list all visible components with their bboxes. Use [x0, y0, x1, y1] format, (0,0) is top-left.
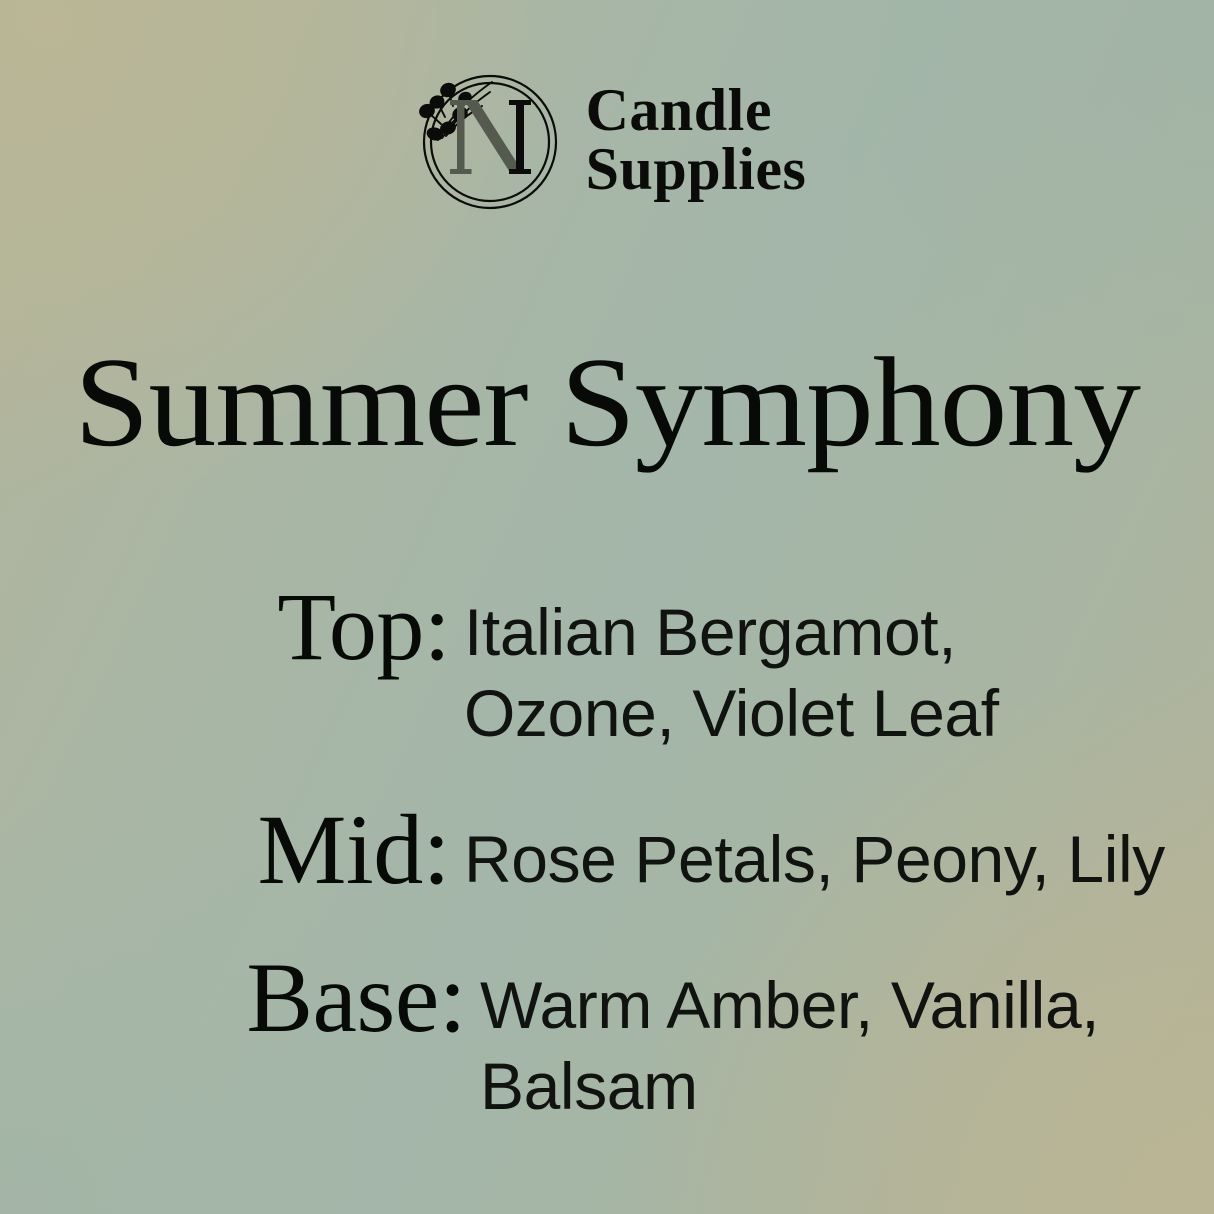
note-label-top: Top: [96, 578, 464, 676]
note-row-mid: Mid: Rose Petals, Peony, Lily [96, 799, 1180, 901]
note-row-top: Top: Italian Bergamot, Ozone, Violet Lea… [96, 578, 1180, 753]
wordmark-line-supplies: Supplies [586, 140, 807, 199]
note-row-base: Base: Warm Amber, Vanilla, Balsam [96, 947, 1180, 1126]
wreath-inner-ring-icon [431, 83, 549, 201]
brand-logo: Candle Supplies [0, 62, 1214, 222]
n-monogram-wreath-icon [408, 62, 568, 222]
note-value-top: Italian Bergamot, Ozone, Violet Leaf [464, 578, 1064, 753]
brand-wordmark: Candle Supplies [586, 81, 807, 203]
fragrance-notes-list: Top: Italian Bergamot, Ozone, Violet Lea… [0, 578, 1214, 1126]
monogram-letter-n [450, 100, 531, 174]
product-title: Summer Symphony [0, 338, 1214, 466]
fragrance-note-card: Candle Supplies Summer Symphony Top: Ita… [0, 0, 1214, 1214]
note-value-mid: Rose Petals, Peony, Lily [464, 799, 1180, 900]
note-label-mid: Mid: [96, 799, 464, 901]
wordmark-line-candle: Candle [586, 81, 807, 140]
note-label-base: Base: [96, 947, 480, 1049]
note-value-base: Warm Amber, Vanilla, Balsam [480, 947, 1140, 1126]
